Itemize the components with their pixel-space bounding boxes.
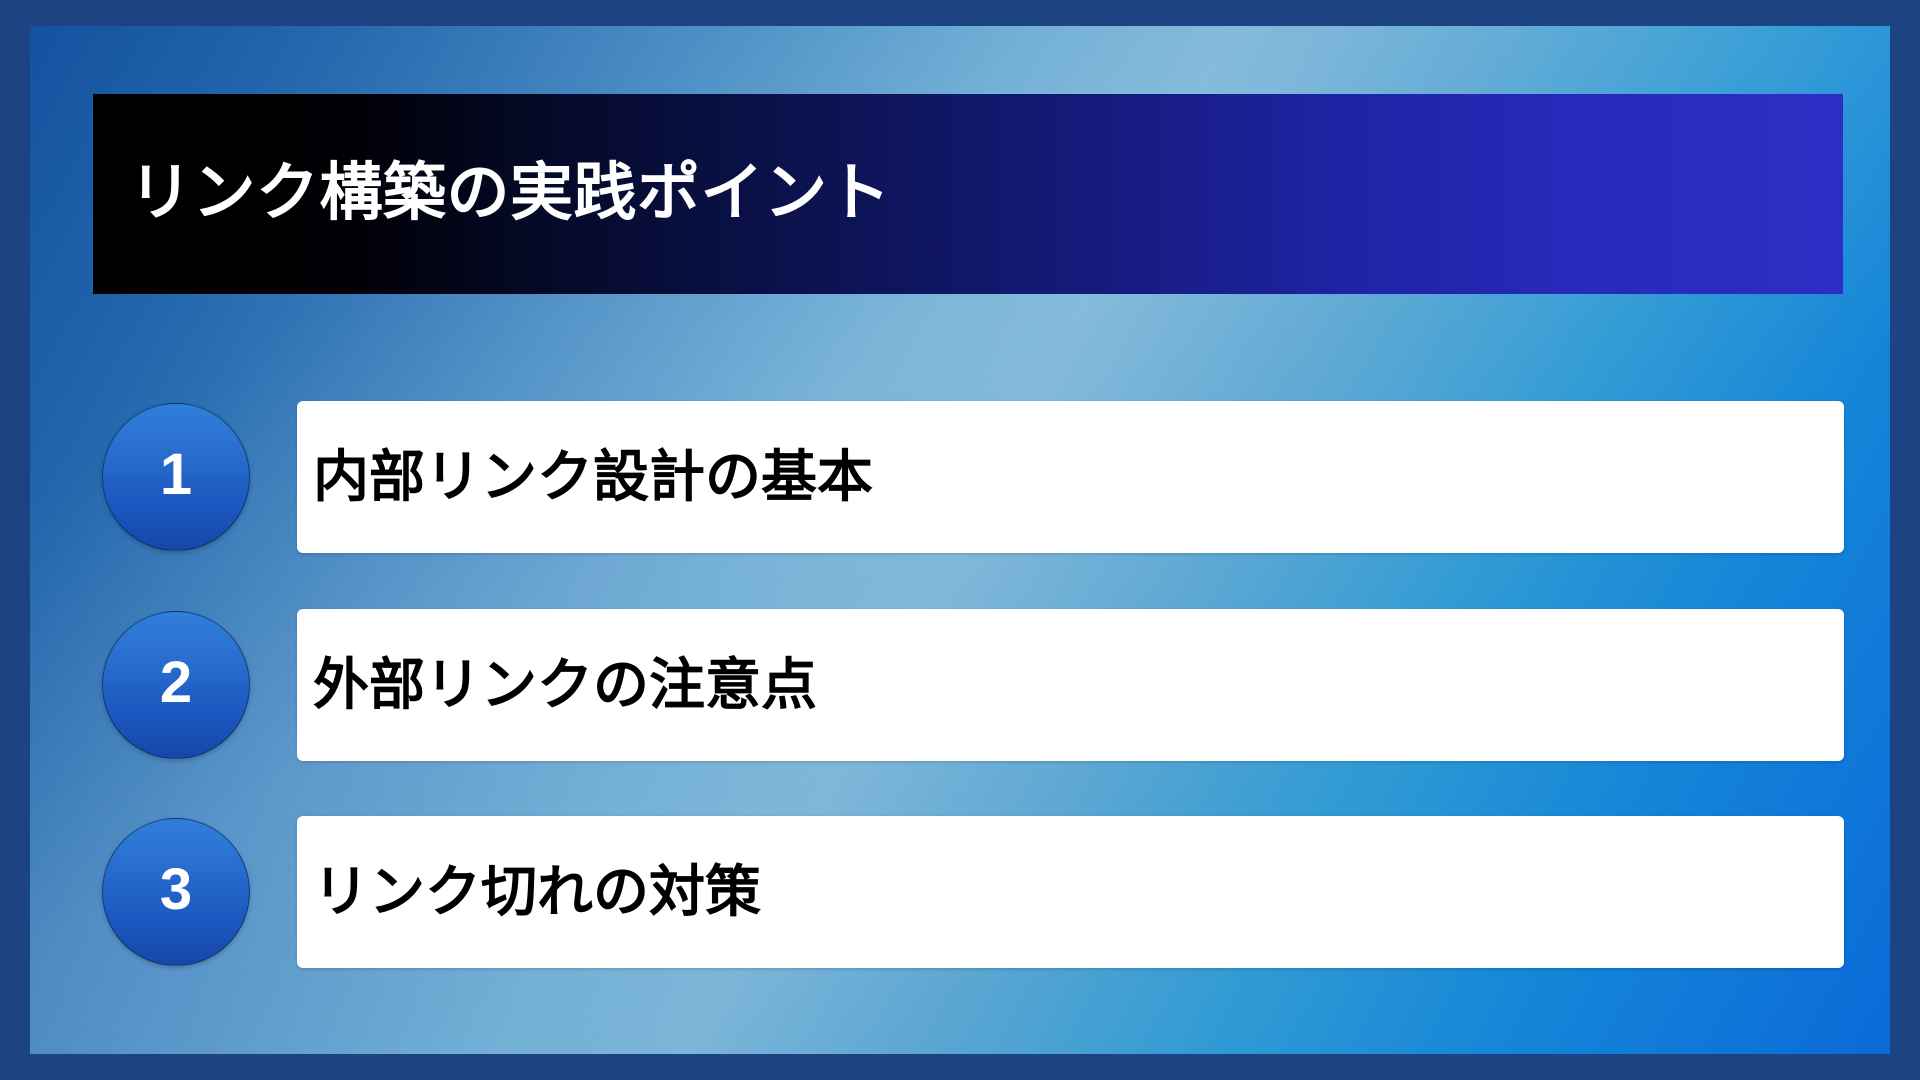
number-badge-2: 2 bbox=[102, 611, 250, 759]
number-badge-label: 2 bbox=[160, 654, 192, 716]
slide-panel: リンク構築の実践ポイント 1 内部リンク設計の基本 2 外部リンクの注意点 bbox=[30, 26, 1890, 1054]
list-item-card-2[interactable]: 外部リンクの注意点 bbox=[297, 609, 1844, 761]
number-badge-label: 3 bbox=[160, 861, 192, 923]
number-badge-label: 1 bbox=[160, 446, 192, 508]
numbered-list: 1 内部リンク設計の基本 2 外部リンクの注意点 3 リンク bbox=[30, 26, 1890, 1054]
list-item[interactable]: 1 内部リンク設計の基本 bbox=[30, 401, 1890, 553]
number-badge-3: 3 bbox=[102, 818, 250, 966]
list-item-card-1[interactable]: 内部リンク設計の基本 bbox=[297, 401, 1844, 553]
list-item-label: 外部リンクの注意点 bbox=[313, 654, 817, 716]
list-item[interactable]: 3 リンク切れの対策 bbox=[30, 816, 1890, 968]
list-item-label: リンク切れの対策 bbox=[313, 861, 761, 923]
list-item-label: 内部リンク設計の基本 bbox=[313, 446, 873, 508]
list-item[interactable]: 2 外部リンクの注意点 bbox=[30, 609, 1890, 761]
slide: リンク構築の実践ポイント 1 内部リンク設計の基本 2 外部リンクの注意点 bbox=[0, 0, 1920, 1080]
number-badge-1: 1 bbox=[102, 403, 250, 551]
list-item-card-3[interactable]: リンク切れの対策 bbox=[297, 816, 1844, 968]
